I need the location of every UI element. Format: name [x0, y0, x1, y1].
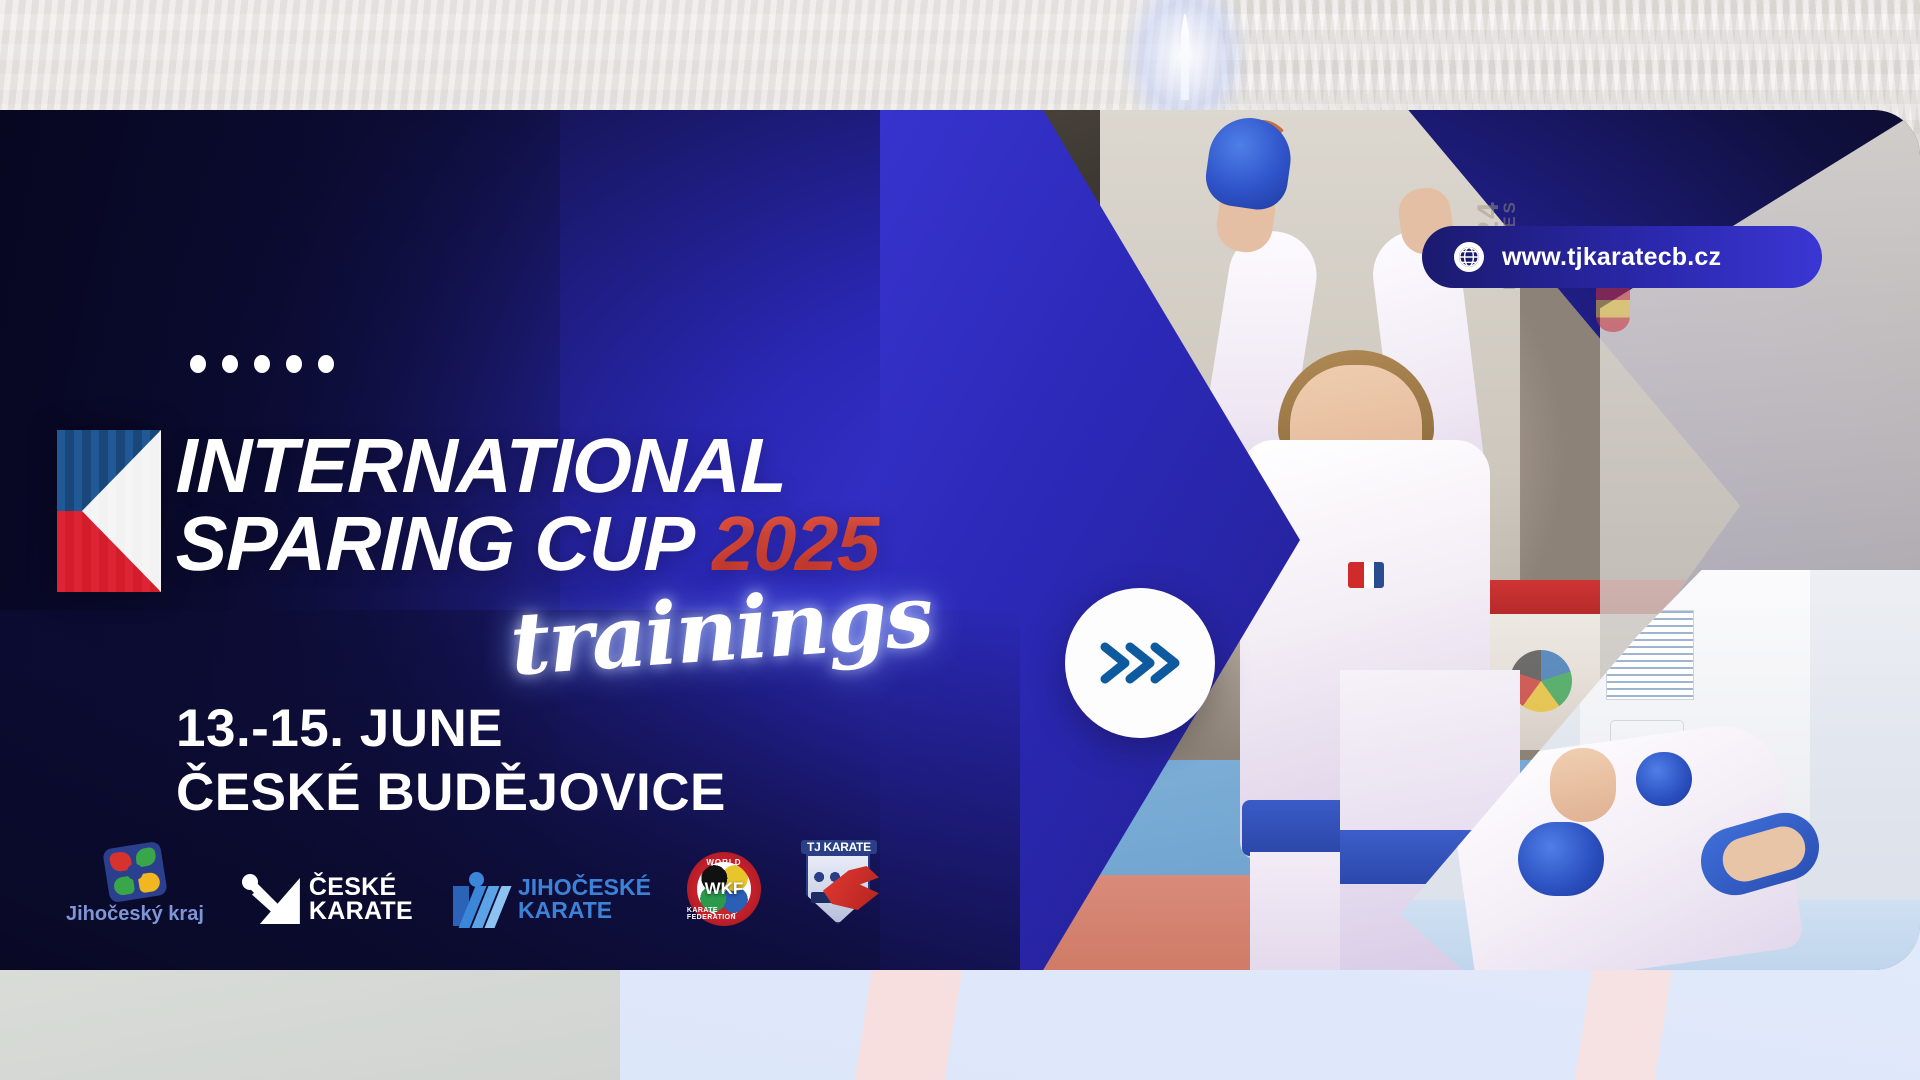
website-url-pill[interactable]: www.tjkaratecb.cz [1422, 226, 1822, 288]
kick-athlete-head [1550, 748, 1616, 822]
jihocesky-kraj-logo-icon [102, 841, 168, 903]
sponsor-jihocesky-kraj[interactable]: Jihočeský kraj [66, 845, 204, 926]
wkf-logo-icon: WORLD WKF KARATE FEDERATION [687, 852, 761, 926]
tj-karate-cb-logo-icon: TJ KARATE [797, 840, 879, 926]
jihoceske-karate-line2: KARATE [518, 899, 651, 922]
jihocesky-kraj-label: Jihočeský kraj [66, 903, 204, 926]
arena-crest [1596, 286, 1630, 332]
event-city: ČESKÉ BUDĚJOVICE [176, 762, 726, 823]
dot-1 [190, 355, 206, 373]
kick-athlete-glove-high [1636, 752, 1692, 806]
sponsor-ceske-karate[interactable]: ČESKÉ KARATE [240, 872, 413, 926]
jihoceske-karate-label: JIHOČESKÉ KARATE [518, 876, 651, 921]
dot-5 [318, 355, 334, 373]
title-line-2: SPARING CUP 2025 [175, 508, 1096, 580]
dot-4 [286, 355, 302, 373]
sponsor-jihoceske-karate[interactable]: JIHOČESKÉ KARATE [449, 872, 651, 926]
headline-block: INTERNATIONAL SPARING CUP 2025 [176, 430, 1096, 581]
flag-fold-shading [57, 430, 161, 592]
wkf-center-text: WKF [705, 879, 744, 899]
czech-flag-icon [57, 430, 161, 592]
globe-glyph [1457, 245, 1481, 269]
forward-chevron-button[interactable] [1065, 588, 1215, 738]
athlete-blue-glove [1202, 113, 1296, 214]
triple-chevron-right-icon [1097, 637, 1183, 689]
website-url-text: www.tjkaratecb.cz [1502, 243, 1721, 272]
globe-icon [1454, 242, 1484, 272]
title-line-2-main: SPARING CUP [175, 501, 692, 587]
jihoceske-karate-line1: JIHOČESKÉ [518, 876, 651, 899]
sponsor-logo-row: Jihočeský kraj ČESKÉ KARATE [66, 840, 879, 926]
wkf-bottom-text: KARATE FEDERATION [687, 907, 761, 921]
event-date: 13.-15. JUNE [176, 698, 503, 759]
athlete-flag-patch [1348, 562, 1384, 588]
decorative-dots [190, 355, 334, 373]
sponsor-wkf[interactable]: WORLD WKF KARATE FEDERATION [687, 852, 761, 926]
ceske-karate-label: ČESKÉ KARATE [309, 875, 413, 924]
ceske-karate-line2: KARATE [309, 899, 413, 924]
sponsor-tj-karate-cb[interactable]: TJ KARATE [797, 840, 879, 926]
promo-banner: 2024 RFEF.ES INTERNATIONAL SPARING CUP [0, 110, 1920, 970]
jihoceske-karate-logo-icon [449, 872, 507, 926]
tj-title-text: TJ KARATE [801, 840, 877, 854]
ceske-karate-line1: ČESKÉ [309, 875, 413, 900]
dot-2 [222, 355, 238, 373]
dot-3 [254, 355, 270, 373]
title-line-1: INTERNATIONAL [175, 430, 1096, 502]
kick-athlete-glove-low [1518, 822, 1604, 896]
wkf-top-text: WORLD [706, 858, 741, 867]
jhk-head-dot [469, 872, 484, 887]
ceske-karate-logo-icon [240, 872, 298, 926]
